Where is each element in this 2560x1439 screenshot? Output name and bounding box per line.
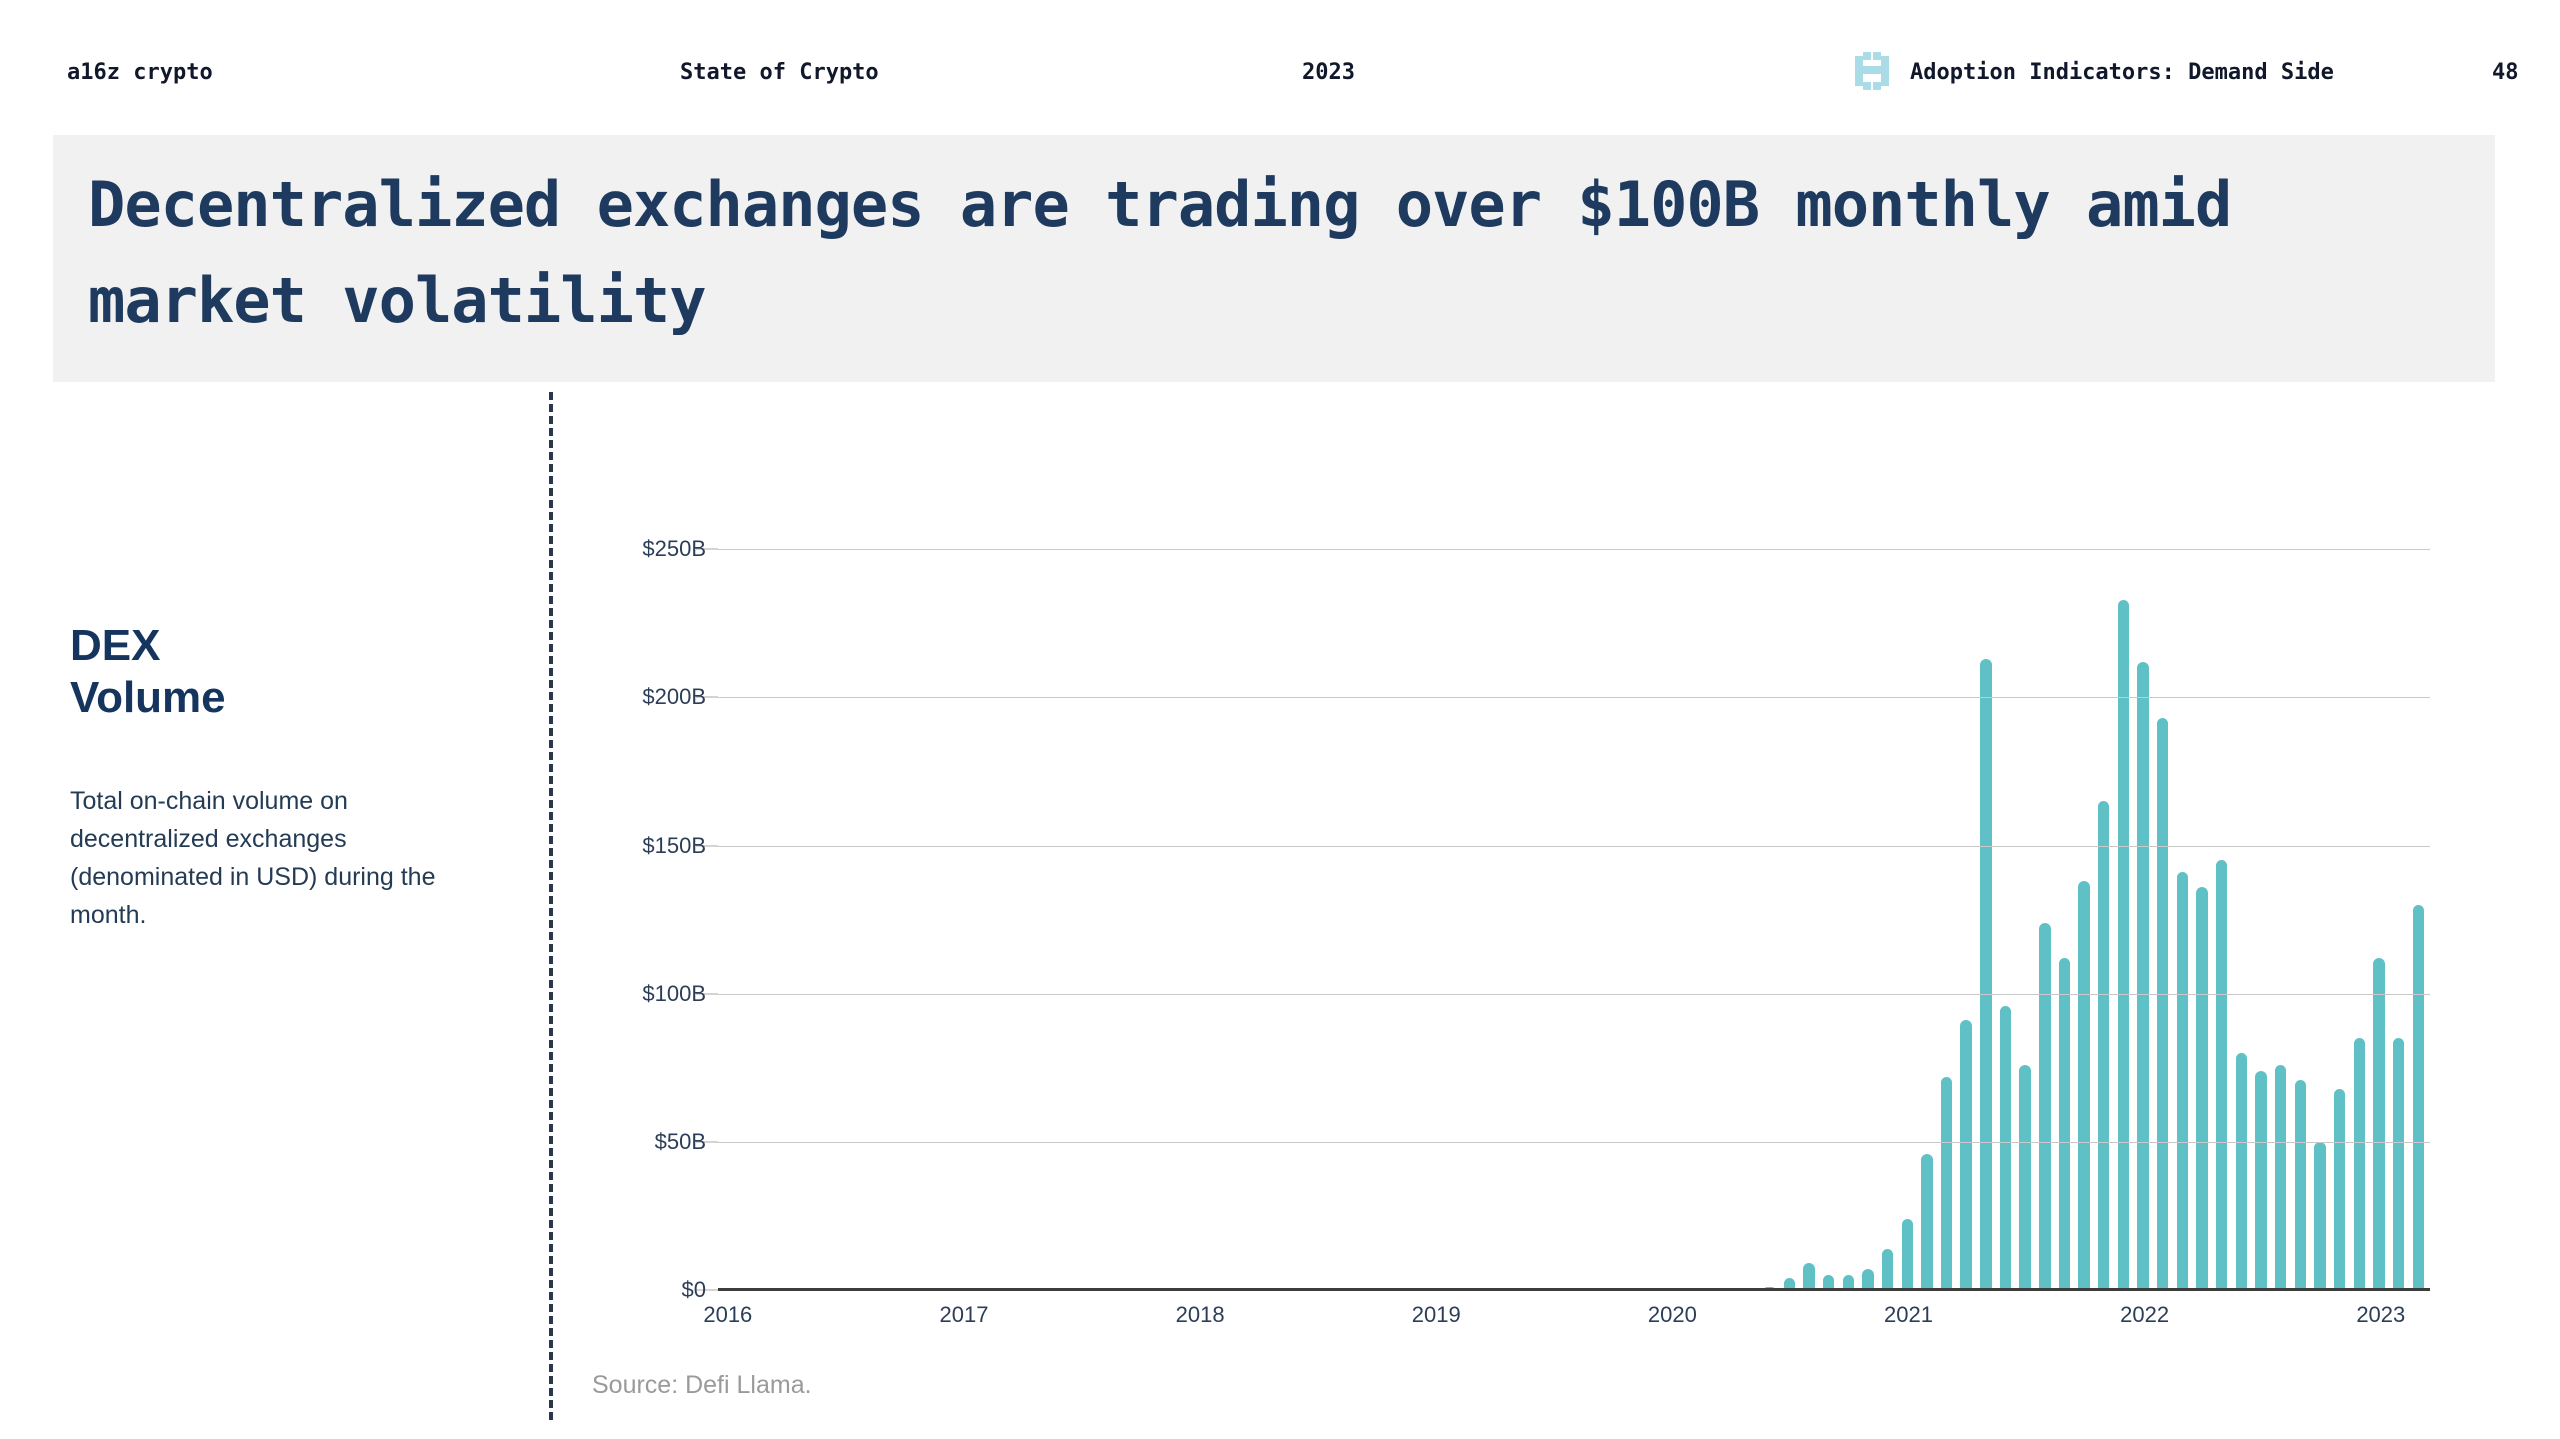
bar: [1803, 1263, 1814, 1290]
slide-header: a16z crypto State of Crypto 2023 Adoptio…: [0, 0, 2560, 125]
bar: [1921, 1154, 1932, 1290]
bar: [2354, 1038, 2365, 1290]
title-band: Decentralized exchanges are trading over…: [53, 135, 2495, 382]
bar: [2000, 1006, 2011, 1290]
x-axis-tick-label: 2020: [1648, 1302, 1697, 1328]
bar: [2393, 1038, 2404, 1290]
bar: [2314, 1142, 2325, 1290]
bar: [1902, 1219, 1913, 1290]
metric-description: Total on-chain volume on decentralized e…: [70, 782, 470, 934]
bar: [2019, 1065, 2030, 1290]
bar: [2275, 1065, 2286, 1290]
brand-label: a16z crypto: [67, 60, 213, 85]
x-axis-line: [718, 1288, 2430, 1291]
report-year-label: 2023: [1302, 60, 1355, 85]
bar: [2078, 881, 2089, 1290]
x-axis-tick-label: 2019: [1412, 1302, 1461, 1328]
report-title-label: State of Crypto: [680, 60, 879, 85]
bar-series: [718, 490, 2430, 1290]
x-axis-tick-label: 2017: [939, 1302, 988, 1328]
metric-name: DEX Volume: [70, 620, 470, 724]
dex-volume-chart: $0$50B$100B$150B$200B$250B20162017201820…: [590, 440, 2490, 1360]
x-axis-tick-label: 2021: [1884, 1302, 1933, 1328]
bar: [2373, 958, 2384, 1290]
bar: [2098, 801, 2109, 1290]
page-number: 48: [2492, 60, 2519, 85]
x-axis-tick-label: 2022: [2120, 1302, 2169, 1328]
y-axis-tick-label: $200B: [642, 684, 706, 710]
bar: [2216, 860, 2227, 1290]
bar: [2196, 887, 2207, 1290]
puzzle-block-icon: [1855, 52, 1889, 90]
bar: [2177, 872, 2188, 1290]
y-axis-tick-label: $100B: [642, 981, 706, 1007]
bar: [2118, 600, 2129, 1290]
bar: [2295, 1080, 2306, 1290]
gridline: [718, 994, 2430, 995]
bar: [1862, 1269, 1873, 1290]
bar: [2334, 1089, 2345, 1290]
bar: [2413, 905, 2424, 1290]
gridline: [718, 697, 2430, 698]
bar: [2137, 662, 2148, 1290]
gridline: [718, 1142, 2430, 1143]
y-axis-tick-label: $0: [682, 1277, 706, 1303]
y-axis-tick-label: $50B: [655, 1129, 706, 1155]
bar: [2039, 923, 2050, 1290]
x-axis-tick-label: 2023: [2356, 1302, 2405, 1328]
y-axis-tick-label: $250B: [642, 536, 706, 562]
gridline: [718, 549, 2430, 550]
bar: [1980, 659, 1991, 1290]
vertical-dashed-divider: [549, 392, 553, 1420]
bar: [2157, 718, 2168, 1290]
bar: [1882, 1249, 1893, 1290]
bar: [2236, 1053, 2247, 1290]
y-axis-tick-label: $150B: [642, 833, 706, 859]
x-axis-tick-label: 2016: [703, 1302, 752, 1328]
chart-source-note: Source: Defi Llama.: [592, 1371, 812, 1400]
section-label: Adoption Indicators: Demand Side: [1910, 60, 2334, 85]
x-axis-tick-label: 2018: [1176, 1302, 1225, 1328]
bar: [2255, 1071, 2266, 1290]
bar: [1941, 1077, 1952, 1290]
chart-plot-area: $0$50B$100B$150B$200B$250B20162017201820…: [718, 490, 2430, 1290]
bar: [1960, 1020, 1971, 1290]
page-title: Decentralized exchanges are trading over…: [88, 157, 2468, 349]
gridline: [718, 846, 2430, 847]
bar: [2059, 958, 2070, 1290]
left-description-column: DEX Volume Total on-chain volume on dece…: [70, 620, 470, 934]
